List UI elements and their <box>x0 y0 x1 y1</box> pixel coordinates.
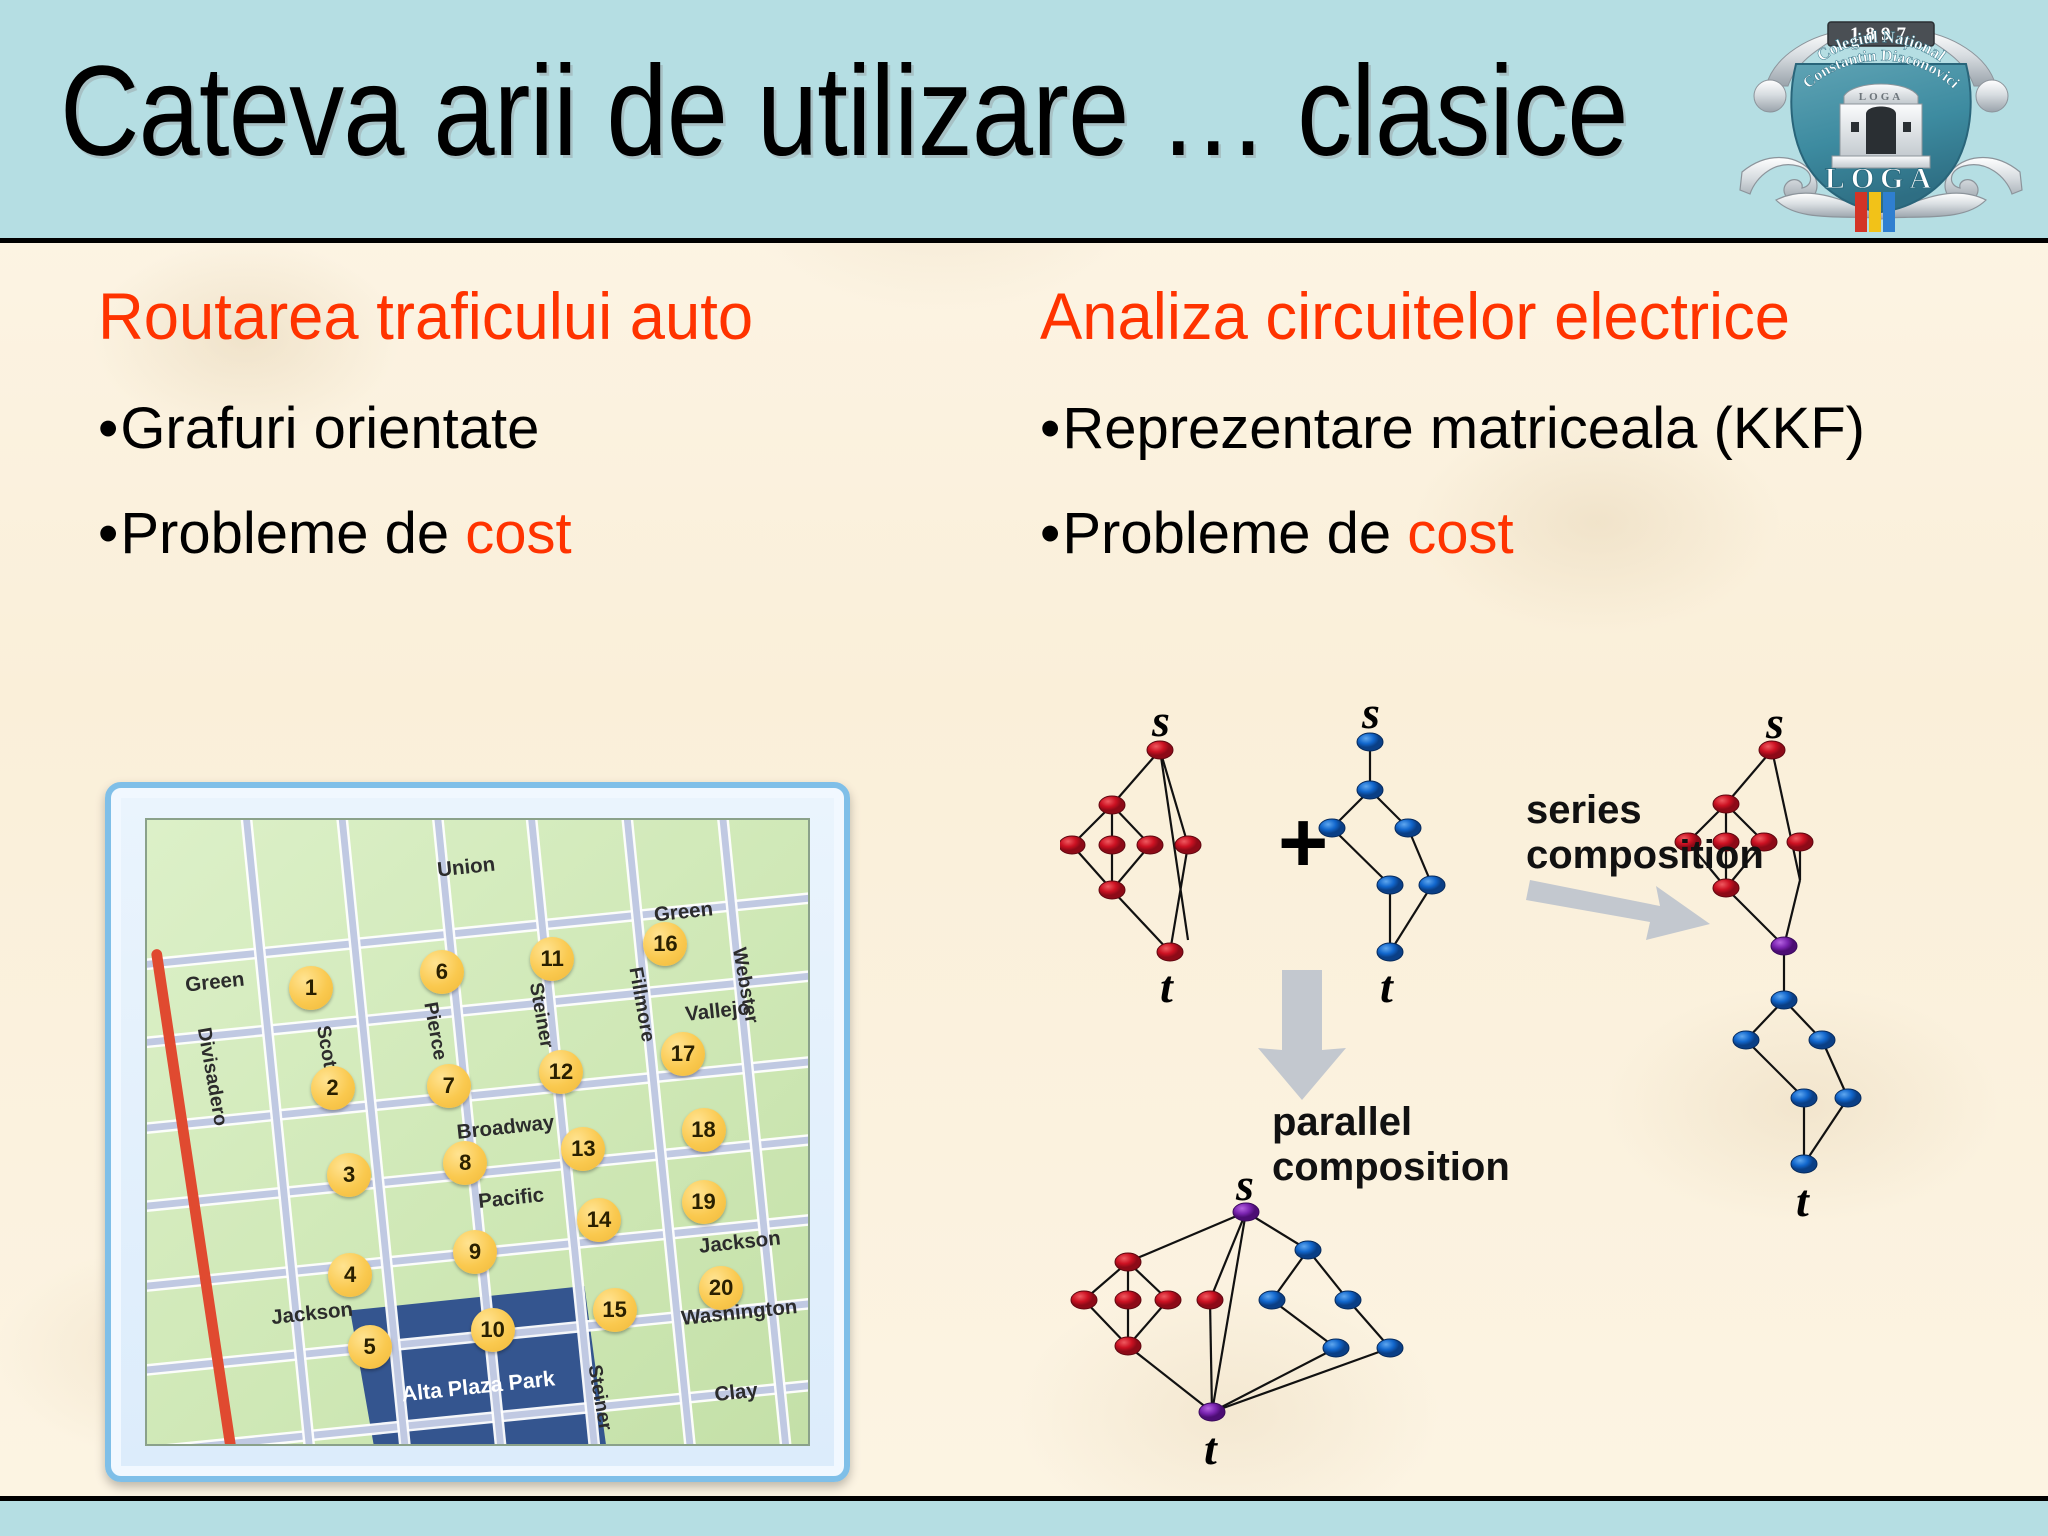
graph-node <box>1099 881 1125 899</box>
graph-node <box>1335 1291 1361 1309</box>
map-node-15[interactable]: 15 <box>593 1288 637 1332</box>
map-node-1[interactable]: 1 <box>289 966 333 1010</box>
bullet-text-plain: Probleme de <box>120 501 465 566</box>
bullet-marker: • <box>1040 397 1060 462</box>
crest-loga-text: LOGA <box>1825 162 1937 195</box>
list-item: • Reprezentare matriceala (KKF) <box>1040 397 2030 462</box>
graph-node <box>1137 836 1163 854</box>
map-node-8[interactable]: 8 <box>443 1141 487 1185</box>
series-arrow-icon <box>1526 880 1710 940</box>
bullet-text-accent: cost <box>1407 501 1513 566</box>
bullet-text: Reprezentare matriceala (KKF) <box>1062 397 2030 462</box>
map-frame: Union Green Green Vallejo Broadway Pacif… <box>105 782 850 1482</box>
label-sink-series: t <box>1796 1174 1809 1227</box>
map-node-12[interactable]: 12 <box>539 1050 583 1094</box>
graph-node-sink <box>1157 943 1183 961</box>
graph-node <box>1809 1031 1835 1049</box>
graph-node <box>1155 1291 1181 1309</box>
bullet-text-accent: cost <box>465 501 571 566</box>
slide-canvas: Cateva arii de utilizare … clasice <box>0 0 2048 1536</box>
label-source-blue: s <box>1362 686 1380 739</box>
map-node-11[interactable]: 11 <box>530 937 574 981</box>
crest-flag-icon <box>1855 192 1895 232</box>
parallel-arrow-icon <box>1258 970 1346 1100</box>
graph-node <box>1295 1241 1321 1259</box>
parallel-composition-label: parallel composition <box>1272 1100 1510 1190</box>
graph-node <box>1115 1291 1141 1309</box>
map-node-4[interactable]: 4 <box>328 1253 372 1297</box>
graph-node <box>1115 1253 1141 1271</box>
map-node-20[interactable]: 20 <box>699 1266 743 1310</box>
crest-gate-icon: LOGA <box>1832 84 1930 168</box>
graph-node <box>1771 991 1797 1009</box>
map-canvas: Union Green Green Vallejo Broadway Pacif… <box>145 818 810 1446</box>
graph-node-sink <box>1791 1155 1817 1173</box>
bullet-marker: • <box>98 502 118 567</box>
graph-node <box>1791 1089 1817 1107</box>
graph-node <box>1733 1031 1759 1049</box>
map-node-14[interactable]: 14 <box>577 1198 621 1242</box>
map-node-2[interactable]: 2 <box>311 1066 355 1110</box>
school-crest-icon: 1897 Colegiul Național Constantin Diacon… <box>1736 4 2026 232</box>
label-sink-red: t <box>1160 960 1173 1013</box>
graph-operand-blue <box>1319 733 1445 961</box>
column-left: Routarea traficului auto • Grafuri orien… <box>98 282 1028 607</box>
slide-header-band: Cateva arii de utilizare … clasice <box>0 0 2048 243</box>
slide-footer-band <box>0 1496 2048 1536</box>
graph-node <box>1071 1291 1097 1309</box>
label-source-red: s <box>1152 694 1170 747</box>
svg-text:LOGA: LOGA <box>1859 91 1903 103</box>
graph-node <box>1713 879 1739 897</box>
graph-node <box>1099 796 1125 814</box>
map-node-13[interactable]: 13 <box>561 1127 605 1171</box>
map-node-10[interactable]: 10 <box>471 1308 515 1352</box>
page-title: Cateva arii de utilizare … clasice <box>60 48 1628 176</box>
bullet-text-plain: Probleme de <box>1062 501 1407 566</box>
graph-node <box>1115 1337 1141 1355</box>
graph-node <box>1060 836 1085 854</box>
map-node-17[interactable]: 17 <box>661 1032 705 1076</box>
label-sink-blue: t <box>1380 960 1393 1013</box>
bullet-marker: • <box>1040 502 1060 567</box>
series-composition-label: series composition <box>1526 788 1764 878</box>
list-item: • Probleme de cost <box>98 502 1028 567</box>
map-node-19[interactable]: 19 <box>682 1180 726 1224</box>
graph-node-sink <box>1377 943 1403 961</box>
graph-node <box>1787 833 1813 851</box>
bullet-text: Probleme de cost <box>1062 502 2030 567</box>
graph-node <box>1395 819 1421 837</box>
graph-node <box>1175 836 1201 854</box>
graph-node <box>1099 836 1125 854</box>
map-node-9[interactable]: 9 <box>453 1230 497 1274</box>
svg-text:Clay: Clay <box>713 1379 759 1406</box>
graph-node <box>1357 781 1383 799</box>
series-parallel-graph-diagram: + s t s t s t s t series composition par… <box>1060 700 2040 1510</box>
traffic-routing-map: Union Green Green Vallejo Broadway Pacif… <box>105 782 850 1482</box>
list-item: • Grafuri orientate <box>98 397 1028 462</box>
graph-node <box>1259 1291 1285 1309</box>
label-source-parallel: s <box>1236 1158 1254 1211</box>
map-node-16[interactable]: 16 <box>643 922 687 966</box>
graph-node <box>1835 1089 1861 1107</box>
plus-operator: + <box>1278 800 1328 886</box>
graph-node <box>1197 1291 1223 1309</box>
graph-parallel-result <box>1071 1203 1403 1421</box>
bullet-text: Probleme de cost <box>120 502 1028 567</box>
graph-node <box>1377 876 1403 894</box>
label-sink-parallel: t <box>1204 1422 1217 1475</box>
graph-node-merge <box>1771 937 1797 955</box>
map-node-5[interactable]: 5 <box>348 1325 392 1369</box>
graph-node-sink <box>1199 1403 1225 1421</box>
bullet-text: Grafuri orientate <box>120 397 1028 462</box>
school-logo: 1897 Colegiul Național Constantin Diacon… <box>1736 4 2026 232</box>
bullet-marker: • <box>98 397 118 462</box>
column-left-heading: Routarea traficului auto <box>98 282 991 351</box>
graph-node <box>1419 876 1445 894</box>
list-item: • Probleme de cost <box>1040 502 2030 567</box>
map-node-18[interactable]: 18 <box>682 1108 726 1152</box>
column-right-heading: Analiza circuitelor electrice <box>1040 282 1990 351</box>
label-source-series: s <box>1766 696 1784 749</box>
graph-operand-red <box>1060 741 1201 961</box>
map-node-6[interactable]: 6 <box>420 950 464 994</box>
column-right: Analiza circuitelor electrice • Reprezen… <box>1040 282 2030 607</box>
graph-node <box>1377 1339 1403 1357</box>
map-node-3[interactable]: 3 <box>327 1153 371 1197</box>
map-node-7[interactable]: 7 <box>427 1064 471 1108</box>
graph-node <box>1323 1339 1349 1357</box>
